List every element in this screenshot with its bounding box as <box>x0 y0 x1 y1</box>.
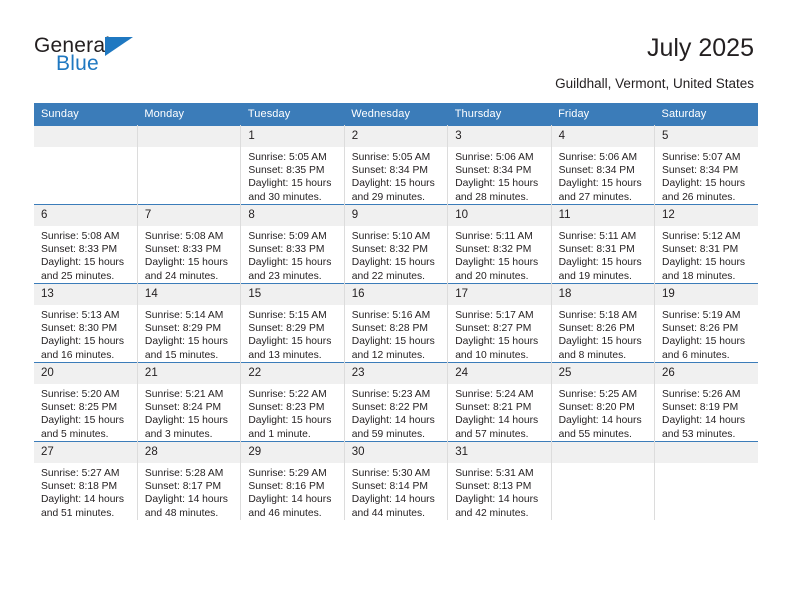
weekday-header-saturday: Saturday <box>655 103 758 126</box>
sunrise-text: Sunrise: 5:26 AM <box>662 388 752 401</box>
calendar-day-cell[interactable]: 1Sunrise: 5:05 AMSunset: 8:35 PMDaylight… <box>241 126 344 205</box>
calendar-day-cell[interactable]: 28Sunrise: 5:28 AMSunset: 8:17 PMDayligh… <box>137 442 240 521</box>
sunset-text: Sunset: 8:18 PM <box>41 480 131 493</box>
sunrise-text: Sunrise: 5:21 AM <box>145 388 234 401</box>
day-number: 1 <box>241 126 343 147</box>
day-number: 8 <box>241 205 343 226</box>
day-number: 6 <box>34 205 137 226</box>
day-details: Sunrise: 5:28 AMSunset: 8:17 PMDaylight:… <box>138 463 240 520</box>
calendar-day-cell[interactable]: 12Sunrise: 5:12 AMSunset: 8:31 PMDayligh… <box>655 205 758 284</box>
day-number: 18 <box>552 284 654 305</box>
sunrise-text: Sunrise: 5:23 AM <box>352 388 441 401</box>
sunrise-text: Sunrise: 5:09 AM <box>248 230 337 243</box>
daylight-text-line2: and 44 minutes. <box>352 507 441 520</box>
sunset-text: Sunset: 8:27 PM <box>455 322 544 335</box>
daylight-text-line2: and 1 minute. <box>248 428 337 441</box>
calendar-day-cell[interactable]: 29Sunrise: 5:29 AMSunset: 8:16 PMDayligh… <box>241 442 344 521</box>
day-number: 25 <box>552 363 654 384</box>
page-header: General Blue July 2025 Guildhall, Vermon… <box>0 0 792 103</box>
day-number: 16 <box>345 284 447 305</box>
day-details: Sunrise: 5:24 AMSunset: 8:21 PMDaylight:… <box>448 384 550 441</box>
sunset-text: Sunset: 8:34 PM <box>662 164 752 177</box>
sunset-text: Sunset: 8:29 PM <box>145 322 234 335</box>
day-details: Sunrise: 5:11 AMSunset: 8:32 PMDaylight:… <box>448 226 550 283</box>
daylight-text-line1: Daylight: 14 hours <box>145 493 234 506</box>
sunset-text: Sunset: 8:34 PM <box>455 164 544 177</box>
daylight-text-line2: and 59 minutes. <box>352 428 441 441</box>
location-subtitle: Guildhall, Vermont, United States <box>555 76 754 91</box>
daylight-text-line2: and 3 minutes. <box>145 428 234 441</box>
daylight-text-line1: Daylight: 15 hours <box>248 177 337 190</box>
calendar-day-cell[interactable]: 15Sunrise: 5:15 AMSunset: 8:29 PMDayligh… <box>241 284 344 363</box>
sunrise-text: Sunrise: 5:14 AM <box>145 309 234 322</box>
sunrise-text: Sunrise: 5:11 AM <box>455 230 544 243</box>
sunrise-text: Sunrise: 5:24 AM <box>455 388 544 401</box>
calendar-day-cell[interactable]: 11Sunrise: 5:11 AMSunset: 8:31 PMDayligh… <box>551 205 654 284</box>
day-details: Sunrise: 5:21 AMSunset: 8:24 PMDaylight:… <box>138 384 240 441</box>
calendar-day-cell[interactable]: 20Sunrise: 5:20 AMSunset: 8:25 PMDayligh… <box>34 363 137 442</box>
calendar-day-cell[interactable]: 4Sunrise: 5:06 AMSunset: 8:34 PMDaylight… <box>551 126 654 205</box>
day-number: 28 <box>138 442 240 463</box>
day-number: 4 <box>552 126 654 147</box>
daylight-text-line2: and 28 minutes. <box>455 191 544 204</box>
sunrise-text: Sunrise: 5:18 AM <box>559 309 648 322</box>
sunset-text: Sunset: 8:33 PM <box>248 243 337 256</box>
calendar-week-row: 6Sunrise: 5:08 AMSunset: 8:33 PMDaylight… <box>34 205 758 284</box>
day-details: Sunrise: 5:12 AMSunset: 8:31 PMDaylight:… <box>655 226 758 283</box>
sunrise-text: Sunrise: 5:19 AM <box>662 309 752 322</box>
weekday-header-wednesday: Wednesday <box>344 103 447 126</box>
calendar-day-cell[interactable]: 22Sunrise: 5:22 AMSunset: 8:23 PMDayligh… <box>241 363 344 442</box>
sunrise-text: Sunrise: 5:27 AM <box>41 467 131 480</box>
general-blue-logo[interactable]: General Blue <box>34 34 164 82</box>
sunset-text: Sunset: 8:35 PM <box>248 164 337 177</box>
sunrise-sunset-calendar-table: Sunday Monday Tuesday Wednesday Thursday… <box>34 103 758 520</box>
sunset-text: Sunset: 8:31 PM <box>662 243 752 256</box>
sunset-text: Sunset: 8:29 PM <box>248 322 337 335</box>
logo-text-blue: Blue <box>56 52 99 76</box>
daylight-text-line2: and 10 minutes. <box>455 349 544 362</box>
sunset-text: Sunset: 8:26 PM <box>559 322 648 335</box>
day-number: 19 <box>655 284 758 305</box>
sunrise-text: Sunrise: 5:11 AM <box>559 230 648 243</box>
day-details: Sunrise: 5:06 AMSunset: 8:34 PMDaylight:… <box>448 147 550 204</box>
daylight-text-line2: and 57 minutes. <box>455 428 544 441</box>
day-number: 9 <box>345 205 447 226</box>
sunset-text: Sunset: 8:32 PM <box>455 243 544 256</box>
weekday-header-friday: Friday <box>551 103 654 126</box>
calendar-page: General Blue July 2025 Guildhall, Vermon… <box>0 0 792 612</box>
sunset-text: Sunset: 8:23 PM <box>248 401 337 414</box>
day-number: 15 <box>241 284 343 305</box>
daylight-text-line1: Daylight: 14 hours <box>455 414 544 427</box>
daylight-text-line1: Daylight: 14 hours <box>559 414 648 427</box>
sunrise-text: Sunrise: 5:17 AM <box>455 309 544 322</box>
daylight-text-line2: and 42 minutes. <box>455 507 544 520</box>
sunrise-text: Sunrise: 5:07 AM <box>662 151 752 164</box>
sunset-text: Sunset: 8:20 PM <box>559 401 648 414</box>
day-details: Sunrise: 5:11 AMSunset: 8:31 PMDaylight:… <box>552 226 654 283</box>
sunset-text: Sunset: 8:34 PM <box>559 164 648 177</box>
day-number <box>34 126 137 147</box>
calendar-day-cell[interactable]: 13Sunrise: 5:13 AMSunset: 8:30 PMDayligh… <box>34 284 137 363</box>
calendar-day-cell[interactable]: 30Sunrise: 5:30 AMSunset: 8:14 PMDayligh… <box>344 442 447 521</box>
day-number: 22 <box>241 363 343 384</box>
sunrise-text: Sunrise: 5:28 AM <box>145 467 234 480</box>
day-details: Sunrise: 5:06 AMSunset: 8:34 PMDaylight:… <box>552 147 654 204</box>
daylight-text-line2: and 5 minutes. <box>41 428 131 441</box>
day-details: Sunrise: 5:20 AMSunset: 8:25 PMDaylight:… <box>34 384 137 441</box>
daylight-text-line1: Daylight: 14 hours <box>248 493 337 506</box>
calendar-day-cell-empty <box>34 126 137 205</box>
weekday-header-row: Sunday Monday Tuesday Wednesday Thursday… <box>34 103 758 126</box>
calendar-day-cell[interactable]: 18Sunrise: 5:18 AMSunset: 8:26 PMDayligh… <box>551 284 654 363</box>
day-details: Sunrise: 5:31 AMSunset: 8:13 PMDaylight:… <box>448 463 550 520</box>
daylight-text-line1: Daylight: 15 hours <box>145 256 234 269</box>
day-details: Sunrise: 5:08 AMSunset: 8:33 PMDaylight:… <box>138 226 240 283</box>
daylight-text-line1: Daylight: 14 hours <box>352 414 441 427</box>
sunset-text: Sunset: 8:33 PM <box>145 243 234 256</box>
calendar-day-cell-empty <box>655 442 758 521</box>
daylight-text-line2: and 24 minutes. <box>145 270 234 283</box>
sunrise-text: Sunrise: 5:13 AM <box>41 309 131 322</box>
day-details: Sunrise: 5:26 AMSunset: 8:19 PMDaylight:… <box>655 384 758 441</box>
day-details: Sunrise: 5:16 AMSunset: 8:28 PMDaylight:… <box>345 305 447 362</box>
day-number: 20 <box>34 363 137 384</box>
daylight-text-line1: Daylight: 15 hours <box>352 177 441 190</box>
calendar-day-cell-empty <box>137 126 240 205</box>
calendar-day-cell[interactable]: 9Sunrise: 5:10 AMSunset: 8:32 PMDaylight… <box>344 205 447 284</box>
daylight-text-line2: and 53 minutes. <box>662 428 752 441</box>
day-number: 23 <box>345 363 447 384</box>
day-number <box>552 442 654 463</box>
daylight-text-line2: and 26 minutes. <box>662 191 752 204</box>
daylight-text-line2: and 19 minutes. <box>559 270 648 283</box>
daylight-text-line1: Daylight: 15 hours <box>455 177 544 190</box>
weekday-header-monday: Monday <box>137 103 240 126</box>
daylight-text-line2: and 16 minutes. <box>41 349 131 362</box>
sunrise-text: Sunrise: 5:05 AM <box>352 151 441 164</box>
sunset-text: Sunset: 8:31 PM <box>559 243 648 256</box>
day-details: Sunrise: 5:14 AMSunset: 8:29 PMDaylight:… <box>138 305 240 362</box>
calendar-week-row: 13Sunrise: 5:13 AMSunset: 8:30 PMDayligh… <box>34 284 758 363</box>
day-number: 2 <box>345 126 447 147</box>
daylight-text-line1: Daylight: 15 hours <box>559 177 648 190</box>
sunset-text: Sunset: 8:17 PM <box>145 480 234 493</box>
day-number: 24 <box>448 363 550 384</box>
calendar-day-cell[interactable]: 27Sunrise: 5:27 AMSunset: 8:18 PMDayligh… <box>34 442 137 521</box>
day-number: 7 <box>138 205 240 226</box>
sunset-text: Sunset: 8:28 PM <box>352 322 441 335</box>
sunset-text: Sunset: 8:25 PM <box>41 401 131 414</box>
daylight-text-line1: Daylight: 14 hours <box>662 414 752 427</box>
calendar-day-cell[interactable]: 23Sunrise: 5:23 AMSunset: 8:22 PMDayligh… <box>344 363 447 442</box>
daylight-text-line1: Daylight: 15 hours <box>559 335 648 348</box>
day-details: Sunrise: 5:07 AMSunset: 8:34 PMDaylight:… <box>655 147 758 204</box>
calendar-day-cell[interactable]: 19Sunrise: 5:19 AMSunset: 8:26 PMDayligh… <box>655 284 758 363</box>
daylight-text-line1: Daylight: 15 hours <box>41 256 131 269</box>
day-number <box>655 442 758 463</box>
sunrise-text: Sunrise: 5:05 AM <box>248 151 337 164</box>
day-details: Sunrise: 5:09 AMSunset: 8:33 PMDaylight:… <box>241 226 343 283</box>
sunset-text: Sunset: 8:14 PM <box>352 480 441 493</box>
sunrise-text: Sunrise: 5:08 AM <box>41 230 131 243</box>
sunrise-text: Sunrise: 5:10 AM <box>352 230 441 243</box>
sunset-text: Sunset: 8:19 PM <box>662 401 752 414</box>
sunset-text: Sunset: 8:34 PM <box>352 164 441 177</box>
day-details: Sunrise: 5:18 AMSunset: 8:26 PMDaylight:… <box>552 305 654 362</box>
calendar-day-cell[interactable]: 17Sunrise: 5:17 AMSunset: 8:27 PMDayligh… <box>448 284 551 363</box>
day-details: Sunrise: 5:08 AMSunset: 8:33 PMDaylight:… <box>34 226 137 283</box>
daylight-text-line2: and 29 minutes. <box>352 191 441 204</box>
sunrise-text: Sunrise: 5:08 AM <box>145 230 234 243</box>
day-details: Sunrise: 5:05 AMSunset: 8:35 PMDaylight:… <box>241 147 343 204</box>
calendar-week-row: 27Sunrise: 5:27 AMSunset: 8:18 PMDayligh… <box>34 442 758 521</box>
daylight-text-line1: Daylight: 14 hours <box>455 493 544 506</box>
daylight-text-line1: Daylight: 15 hours <box>145 414 234 427</box>
day-details: Sunrise: 5:13 AMSunset: 8:30 PMDaylight:… <box>34 305 137 362</box>
day-number: 27 <box>34 442 137 463</box>
calendar-day-cell-empty <box>551 442 654 521</box>
daylight-text-line2: and 22 minutes. <box>352 270 441 283</box>
day-details: Sunrise: 5:17 AMSunset: 8:27 PMDaylight:… <box>448 305 550 362</box>
daylight-text-line1: Daylight: 15 hours <box>248 414 337 427</box>
daylight-text-line2: and 46 minutes. <box>248 507 337 520</box>
sunset-text: Sunset: 8:33 PM <box>41 243 131 256</box>
calendar-day-cell[interactable]: 21Sunrise: 5:21 AMSunset: 8:24 PMDayligh… <box>137 363 240 442</box>
sunset-text: Sunset: 8:30 PM <box>41 322 131 335</box>
calendar-day-cell[interactable]: 8Sunrise: 5:09 AMSunset: 8:33 PMDaylight… <box>241 205 344 284</box>
sunset-text: Sunset: 8:21 PM <box>455 401 544 414</box>
sunset-text: Sunset: 8:26 PM <box>662 322 752 335</box>
day-number: 30 <box>345 442 447 463</box>
sunrise-text: Sunrise: 5:16 AM <box>352 309 441 322</box>
daylight-text-line2: and 25 minutes. <box>41 270 131 283</box>
daylight-text-line1: Daylight: 15 hours <box>145 335 234 348</box>
sunrise-text: Sunrise: 5:30 AM <box>352 467 441 480</box>
daylight-text-line2: and 30 minutes. <box>248 191 337 204</box>
calendar-day-cell[interactable]: 14Sunrise: 5:14 AMSunset: 8:29 PMDayligh… <box>137 284 240 363</box>
sunrise-text: Sunrise: 5:15 AM <box>248 309 337 322</box>
calendar-day-cell[interactable]: 2Sunrise: 5:05 AMSunset: 8:34 PMDaylight… <box>344 126 447 205</box>
sunset-text: Sunset: 8:22 PM <box>352 401 441 414</box>
day-details: Sunrise: 5:10 AMSunset: 8:32 PMDaylight:… <box>345 226 447 283</box>
day-number: 21 <box>138 363 240 384</box>
page-title: July 2025 <box>647 34 754 63</box>
daylight-text-line1: Daylight: 15 hours <box>248 335 337 348</box>
daylight-text-line2: and 27 minutes. <box>559 191 648 204</box>
calendar-day-cell[interactable]: 10Sunrise: 5:11 AMSunset: 8:32 PMDayligh… <box>448 205 551 284</box>
calendar-day-cell[interactable]: 31Sunrise: 5:31 AMSunset: 8:13 PMDayligh… <box>448 442 551 521</box>
calendar-week-row: 1Sunrise: 5:05 AMSunset: 8:35 PMDaylight… <box>34 126 758 205</box>
day-number: 10 <box>448 205 550 226</box>
calendar-day-cell[interactable]: 24Sunrise: 5:24 AMSunset: 8:21 PMDayligh… <box>448 363 551 442</box>
sunrise-text: Sunrise: 5:06 AM <box>455 151 544 164</box>
daylight-text-line2: and 12 minutes. <box>352 349 441 362</box>
daylight-text-line1: Daylight: 15 hours <box>41 335 131 348</box>
day-details: Sunrise: 5:27 AMSunset: 8:18 PMDaylight:… <box>34 463 137 520</box>
day-number: 11 <box>552 205 654 226</box>
calendar-day-cell[interactable]: 7Sunrise: 5:08 AMSunset: 8:33 PMDaylight… <box>137 205 240 284</box>
calendar-day-cell[interactable]: 16Sunrise: 5:16 AMSunset: 8:28 PMDayligh… <box>344 284 447 363</box>
triangle-icon <box>105 37 133 56</box>
daylight-text-line2: and 23 minutes. <box>248 270 337 283</box>
daylight-text-line1: Daylight: 15 hours <box>352 335 441 348</box>
calendar-day-cell[interactable]: 6Sunrise: 5:08 AMSunset: 8:33 PMDaylight… <box>34 205 137 284</box>
calendar-day-cell[interactable]: 25Sunrise: 5:25 AMSunset: 8:20 PMDayligh… <box>551 363 654 442</box>
daylight-text-line1: Daylight: 14 hours <box>41 493 131 506</box>
sunrise-text: Sunrise: 5:25 AM <box>559 388 648 401</box>
daylight-text-line1: Daylight: 15 hours <box>352 256 441 269</box>
weekday-header-tuesday: Tuesday <box>241 103 344 126</box>
sunset-text: Sunset: 8:24 PM <box>145 401 234 414</box>
sunset-text: Sunset: 8:16 PM <box>248 480 337 493</box>
weekday-header-sunday: Sunday <box>34 103 137 126</box>
calendar-body: 1Sunrise: 5:05 AMSunset: 8:35 PMDaylight… <box>34 126 758 521</box>
daylight-text-line2: and 48 minutes. <box>145 507 234 520</box>
daylight-text-line1: Daylight: 15 hours <box>559 256 648 269</box>
day-details: Sunrise: 5:25 AMSunset: 8:20 PMDaylight:… <box>552 384 654 441</box>
sunrise-text: Sunrise: 5:29 AM <box>248 467 337 480</box>
daylight-text-line1: Daylight: 15 hours <box>41 414 131 427</box>
weekday-header-thursday: Thursday <box>448 103 551 126</box>
daylight-text-line2: and 8 minutes. <box>559 349 648 362</box>
day-number: 14 <box>138 284 240 305</box>
sunrise-text: Sunrise: 5:12 AM <box>662 230 752 243</box>
calendar-day-cell[interactable]: 3Sunrise: 5:06 AMSunset: 8:34 PMDaylight… <box>448 126 551 205</box>
day-details: Sunrise: 5:05 AMSunset: 8:34 PMDaylight:… <box>345 147 447 204</box>
day-details: Sunrise: 5:22 AMSunset: 8:23 PMDaylight:… <box>241 384 343 441</box>
day-number: 17 <box>448 284 550 305</box>
calendar-day-cell[interactable]: 26Sunrise: 5:26 AMSunset: 8:19 PMDayligh… <box>655 363 758 442</box>
daylight-text-line1: Daylight: 15 hours <box>455 335 544 348</box>
day-number: 31 <box>448 442 550 463</box>
sunrise-text: Sunrise: 5:31 AM <box>455 467 544 480</box>
sunset-text: Sunset: 8:32 PM <box>352 243 441 256</box>
day-number <box>138 126 240 147</box>
day-details: Sunrise: 5:30 AMSunset: 8:14 PMDaylight:… <box>345 463 447 520</box>
daylight-text-line1: Daylight: 14 hours <box>352 493 441 506</box>
daylight-text-line2: and 55 minutes. <box>559 428 648 441</box>
daylight-text-line2: and 51 minutes. <box>41 507 131 520</box>
day-number: 5 <box>655 126 758 147</box>
daylight-text-line1: Daylight: 15 hours <box>662 177 752 190</box>
day-details: Sunrise: 5:29 AMSunset: 8:16 PMDaylight:… <box>241 463 343 520</box>
calendar-week-row: 20Sunrise: 5:20 AMSunset: 8:25 PMDayligh… <box>34 363 758 442</box>
day-number: 26 <box>655 363 758 384</box>
daylight-text-line1: Daylight: 15 hours <box>248 256 337 269</box>
day-number: 13 <box>34 284 137 305</box>
day-details: Sunrise: 5:15 AMSunset: 8:29 PMDaylight:… <box>241 305 343 362</box>
daylight-text-line1: Daylight: 15 hours <box>455 256 544 269</box>
day-number: 3 <box>448 126 550 147</box>
daylight-text-line2: and 13 minutes. <box>248 349 337 362</box>
sunrise-text: Sunrise: 5:20 AM <box>41 388 131 401</box>
day-details: Sunrise: 5:23 AMSunset: 8:22 PMDaylight:… <box>345 384 447 441</box>
sunrise-text: Sunrise: 5:22 AM <box>248 388 337 401</box>
daylight-text-line2: and 18 minutes. <box>662 270 752 283</box>
day-details: Sunrise: 5:19 AMSunset: 8:26 PMDaylight:… <box>655 305 758 362</box>
daylight-text-line2: and 6 minutes. <box>662 349 752 362</box>
daylight-text-line2: and 15 minutes. <box>145 349 234 362</box>
day-number: 12 <box>655 205 758 226</box>
sunrise-text: Sunrise: 5:06 AM <box>559 151 648 164</box>
calendar-day-cell[interactable]: 5Sunrise: 5:07 AMSunset: 8:34 PMDaylight… <box>655 126 758 205</box>
daylight-text-line1: Daylight: 15 hours <box>662 256 752 269</box>
daylight-text-line1: Daylight: 15 hours <box>662 335 752 348</box>
daylight-text-line2: and 20 minutes. <box>455 270 544 283</box>
sunset-text: Sunset: 8:13 PM <box>455 480 544 493</box>
day-number: 29 <box>241 442 343 463</box>
